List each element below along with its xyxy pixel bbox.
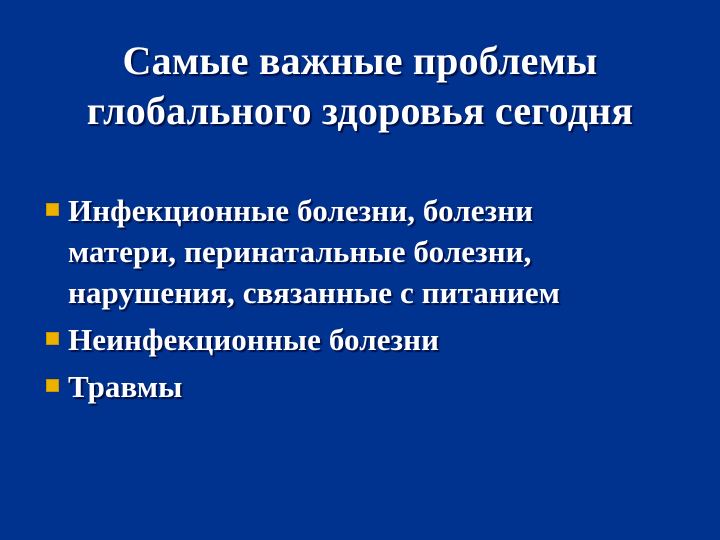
slide-title-line-1: Самые важные проблемы: [40, 36, 680, 86]
presentation-slide: Самые важные проблемы глобального здоров…: [0, 0, 720, 540]
slide-title-line-2: глобального здоровья сегодня: [40, 86, 680, 136]
square-bullet-icon: [46, 332, 59, 345]
list-item: Инфекционные болезни, болезни матери, пе…: [46, 190, 686, 313]
list-item-label: Инфекционные болезни, болезни матери, пе…: [68, 190, 643, 313]
list-item-label: Травмы: [68, 366, 686, 407]
slide-bullet-list: Инфекционные болезни, болезни матери, пе…: [46, 190, 686, 413]
list-item: Травмы: [46, 366, 686, 407]
square-bullet-icon: [46, 203, 59, 216]
list-item: Неинфекционные болезни: [46, 319, 686, 360]
list-item-label: Неинфекционные болезни: [68, 319, 686, 360]
slide-title: Самые важные проблемы глобального здоров…: [40, 36, 680, 136]
square-bullet-icon: [46, 379, 59, 392]
